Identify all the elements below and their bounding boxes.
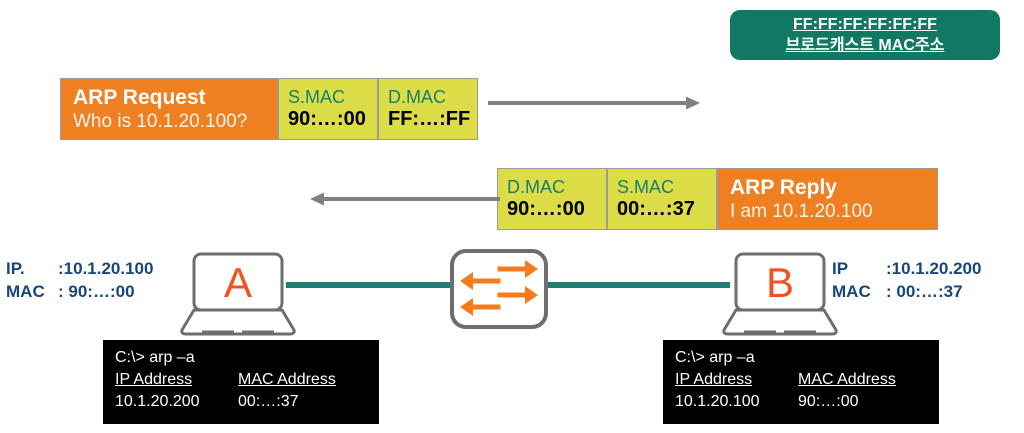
host-b-console-headers: IP Address MAC Address — [675, 369, 927, 391]
host-b-ip-key: IP — [832, 257, 886, 280]
host-a-mac-row: MAC : 90:…:00 — [6, 280, 153, 303]
network-switch-icon — [449, 248, 549, 330]
arp-reply-smac-cell: S.MAC 00:…:37 — [607, 168, 717, 230]
host-b-console-header-ip: IP Address — [675, 369, 798, 391]
arp-request-subtitle: Who is 10.1.20.100? — [73, 110, 267, 133]
arp-request-dmac-name: D.MAC — [388, 87, 469, 108]
broadcast-mac-callout: FF:FF:FF:FF:FF:FF 브로드캐스트 MAC주소 — [730, 10, 1000, 60]
host-b-mac-value: : 00:…:37 — [886, 280, 963, 303]
arp-reply-dmac-cell: D.MAC 90:…:00 — [497, 168, 607, 230]
arp-request-dmac-value: FF:…:FF — [388, 108, 469, 131]
arp-reply-smac-value: 00:…:37 — [617, 198, 708, 221]
arp-request-dmac-cell: D.MAC FF:…:FF — [378, 78, 478, 140]
host-a-ip-value: :10.1.20.100 — [58, 257, 153, 280]
laptop-a-icon: A — [180, 252, 296, 336]
host-b-console-row: 10.1.20.100 90:…:00 — [675, 391, 927, 412]
host-a-arp-console: C:\> arp –a IP Address MAC Address 10.1.… — [103, 340, 379, 424]
arp-reply-flow-arrow-left — [310, 192, 500, 206]
arp-request-smac-value: 90:…:00 — [288, 108, 369, 131]
host-a-mac-value: : 90:…:00 — [58, 280, 135, 303]
host-b-console-mac-value: 90:…:00 — [798, 391, 858, 412]
host-b-mac-key: MAC — [832, 280, 886, 303]
host-a-console-prompt: C:\> arp –a — [115, 347, 367, 369]
arp-reply-dmac-value: 90:…:00 — [507, 198, 598, 221]
arp-reply-label: ARP Reply I am 10.1.20.100 — [717, 168, 938, 230]
host-b-mac-row: MAC : 00:…:37 — [832, 280, 981, 303]
host-a-console-mac-value: 00:…:37 — [238, 391, 298, 412]
host-b-ip-row: IP :10.1.20.200 — [832, 257, 981, 280]
host-a-address-label: IP. :10.1.20.100 MAC : 90:…:00 — [6, 257, 153, 303]
arp-reply-dmac-name: D.MAC — [507, 177, 598, 198]
broadcast-mac-address: FF:FF:FF:FF:FF:FF — [793, 14, 937, 35]
host-b-console-header-mac: MAC Address — [798, 369, 896, 391]
link-a-to-switch — [286, 282, 456, 288]
arp-request-smac-name: S.MAC — [288, 87, 369, 108]
arp-reply-title: ARP Reply — [730, 176, 927, 200]
host-a-ip-row: IP. :10.1.20.100 — [6, 257, 153, 280]
arp-request-flow-arrow-right — [488, 96, 700, 110]
host-b-address-label: IP :10.1.20.200 MAC : 00:…:37 — [832, 257, 981, 303]
host-b-console-prompt: C:\> arp –a — [675, 347, 927, 369]
arp-reply-smac-name: S.MAC — [617, 177, 708, 198]
host-a-console-ip-value: 10.1.20.200 — [115, 391, 238, 412]
host-a-console-row: 10.1.20.200 00:…:37 — [115, 391, 367, 412]
arp-diagram-canvas: FF:FF:FF:FF:FF:FF 브로드캐스트 MAC주소 ARP Reque… — [0, 0, 1024, 433]
arp-request-packet: ARP Request Who is 10.1.20.100? S.MAC 90… — [60, 78, 478, 140]
host-b-arp-console: C:\> arp –a IP Address MAC Address 10.1.… — [663, 340, 939, 424]
svg-text:B: B — [766, 259, 794, 306]
host-a-console-headers: IP Address MAC Address — [115, 369, 367, 391]
host-a-console-header-mac: MAC Address — [238, 369, 336, 391]
laptop-b-icon: B — [722, 252, 838, 336]
host-a-mac-key: MAC — [6, 280, 58, 303]
host-b-ip-value: :10.1.20.200 — [886, 257, 981, 280]
host-a-ip-key: IP. — [6, 257, 58, 280]
arp-reply-packet: D.MAC 90:…:00 S.MAC 00:…:37 ARP Reply I … — [497, 168, 938, 230]
link-switch-to-b — [548, 282, 730, 288]
host-a-console-header-ip: IP Address — [115, 369, 238, 391]
arp-reply-subtitle: I am 10.1.20.100 — [730, 200, 927, 223]
arp-request-title: ARP Request — [73, 86, 267, 110]
arp-request-label: ARP Request Who is 10.1.20.100? — [60, 78, 278, 140]
host-b-console-ip-value: 10.1.20.100 — [675, 391, 798, 412]
arp-request-smac-cell: S.MAC 90:…:00 — [278, 78, 378, 140]
svg-text:A: A — [224, 259, 252, 306]
broadcast-mac-description: 브로드캐스트 MAC주소 — [786, 35, 945, 56]
